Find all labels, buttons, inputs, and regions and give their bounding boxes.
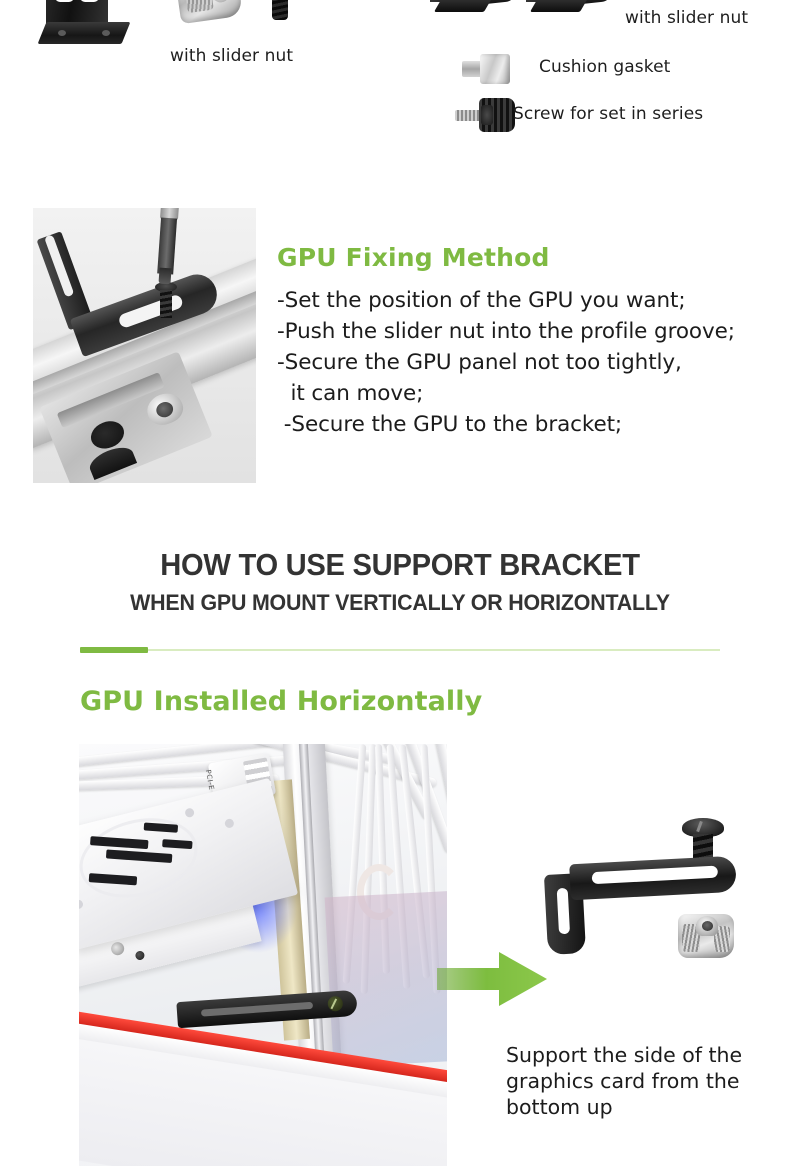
gpu-fixing-method-text: GPU Fixing Method -Set the position of t… xyxy=(277,243,787,441)
section-divider xyxy=(80,646,720,654)
fixing-step: -Secure the GPU panel not too tightly, xyxy=(277,348,787,379)
gpu-installed-horizontally-photo: AB04-1A PCI-E xyxy=(79,744,447,1166)
part-label-slider-nut-right: with slider nut xyxy=(625,8,748,28)
support-bracket-illustration xyxy=(540,818,780,968)
part-label-cushion-gasket: Cushion gasket xyxy=(539,57,670,77)
instruction-page: with slider nut with slider nut Cushion … xyxy=(0,0,800,1166)
section-heading-sub: WHEN GPU MOUNT VERTICALLY OR HORIZONTALL… xyxy=(20,591,780,616)
caption-line: graphics card from the xyxy=(506,1068,786,1094)
fixing-step: it can move; xyxy=(277,379,787,410)
fixing-step: -Push the slider nut into the profile gr… xyxy=(277,317,787,348)
horizontal-section-title: GPU Installed Horizontally xyxy=(80,686,482,717)
gpu-fixing-method-photo xyxy=(33,208,256,483)
angle-bracket-pair-icon xyxy=(430,0,620,28)
green-arrow-icon xyxy=(437,946,547,1012)
fixing-step: -Set the position of the GPU you want; xyxy=(277,286,787,317)
cushion-gasket-icon xyxy=(462,54,510,84)
part-label-slider-nut-left: with slider nut xyxy=(170,46,293,66)
series-screw-icon xyxy=(455,98,515,132)
slider-nut-part-icon xyxy=(175,0,243,24)
part-label-screw-for-series: Screw for set in series xyxy=(513,104,703,124)
caption-line: bottom up xyxy=(506,1094,786,1120)
gpu-fixing-method-title: GPU Fixing Method xyxy=(277,243,787,272)
support-bracket-caption: Support the side of the graphics card fr… xyxy=(506,1042,786,1121)
acrylic-side-panel xyxy=(325,891,447,1068)
parts-overview-section: with slider nut with slider nut Cushion … xyxy=(0,0,800,180)
fixing-step: -Secure the GPU to the bracket; xyxy=(277,410,787,441)
screw-part-icon xyxy=(268,0,292,20)
section-heading-main: HOW TO USE SUPPORT BRACKET xyxy=(24,548,776,582)
l-bracket-part-icon xyxy=(46,0,126,50)
t-slot-nut-icon xyxy=(678,914,734,958)
caption-line: Support the side of the xyxy=(506,1042,786,1068)
gpu-fixing-method-steps: -Set the position of the GPU you want; -… xyxy=(277,286,787,441)
section-heading-block: HOW TO USE SUPPORT BRACKET WHEN GPU MOUN… xyxy=(0,548,800,616)
